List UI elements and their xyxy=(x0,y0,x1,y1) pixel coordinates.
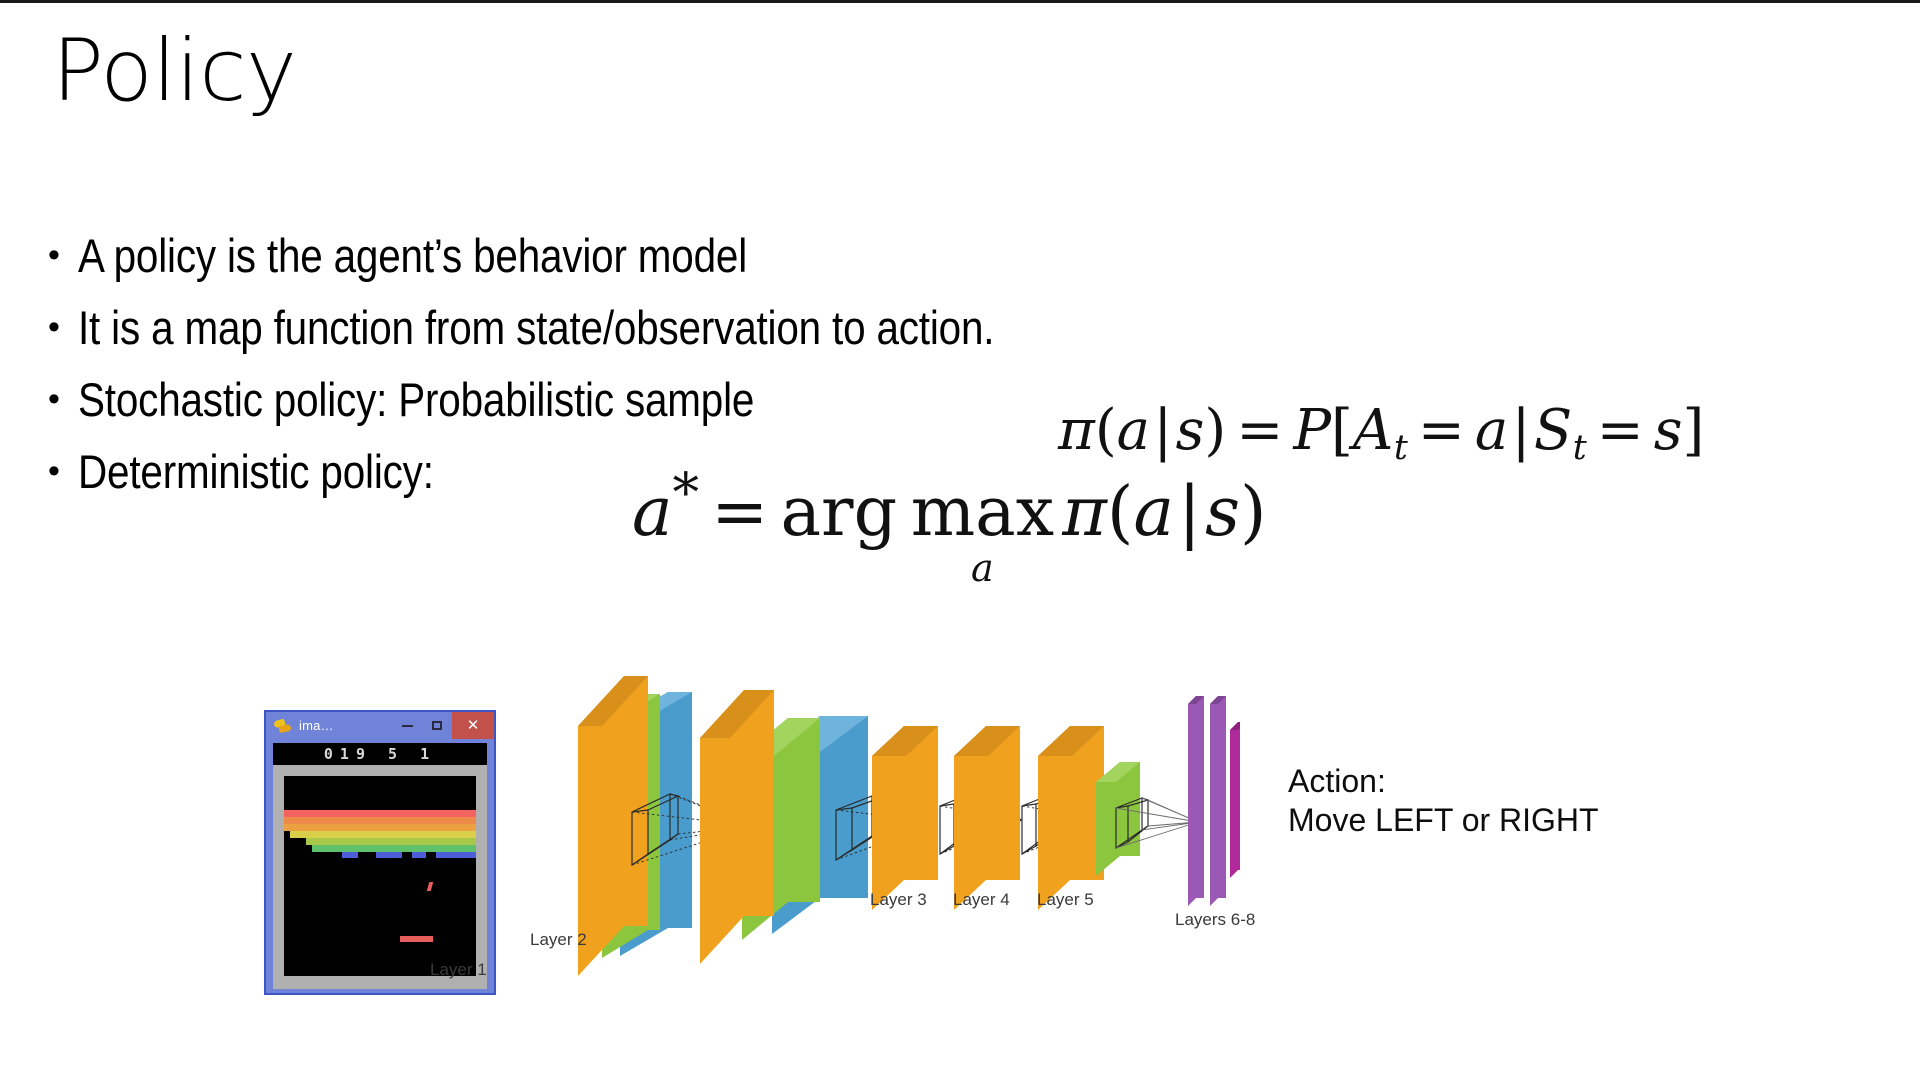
bullet-text-3: Stochastic policy: Probabilistic sample xyxy=(78,372,754,427)
brick-row-orange xyxy=(284,817,476,824)
stochastic-policy-formula: π(a|s)=P[At=a|st=s] xyxy=(1058,398,1704,468)
layer8-bar xyxy=(1230,722,1240,878)
window-title: ima… xyxy=(299,718,334,733)
formula-subscript-t: t xyxy=(1393,428,1407,468)
brick-blue-4 xyxy=(436,852,476,858)
argmax-a: a xyxy=(632,473,673,552)
cnn-label-layer-2: Layer 2 xyxy=(530,930,587,950)
brick-row-yellowgreen xyxy=(306,838,476,845)
layer5-green-block xyxy=(1096,762,1140,876)
bullet-marker-icon: • xyxy=(48,454,78,488)
formula-a-2: a xyxy=(1475,398,1508,463)
layer5-block xyxy=(1038,726,1104,910)
action-caption: Action: Move LEFT or RIGHT xyxy=(1288,762,1599,840)
bullet-text-2: It is a map function from state/observat… xyxy=(78,300,994,355)
cnn-label-layer-5: Layer 5 xyxy=(1037,890,1094,910)
brick-row-yellow xyxy=(290,831,476,838)
formula-paren-open: ( xyxy=(1095,398,1117,463)
paddle xyxy=(400,936,433,942)
bullet-marker-icon: • xyxy=(48,238,78,272)
formula-A: A xyxy=(1353,398,1393,463)
bullet-text-1: A policy is the agent’s behavior model xyxy=(78,228,747,283)
formula-bar-2: | xyxy=(1508,398,1534,463)
bullet-marker-icon: • xyxy=(48,382,78,416)
formula-S: s xyxy=(1534,398,1572,463)
formula-paren-close: ) xyxy=(1204,398,1226,463)
maximize-icon[interactable] xyxy=(422,712,452,739)
page-title: Policy xyxy=(52,26,296,116)
layer2-orange-block xyxy=(700,690,774,964)
bullet-text-4: Deterministic policy: xyxy=(78,444,434,499)
cnn-label-layer-1: Layer 1 xyxy=(430,960,487,980)
deterministic-policy-formula: a*=arg maxaπ(a|s) xyxy=(632,462,1267,587)
cnn-label-layers-6-8: Layers 6-8 xyxy=(1175,910,1255,930)
window-titlebar[interactable]: ima… ✕ xyxy=(266,712,494,739)
argmax-paren-close: ) xyxy=(1240,473,1267,552)
action-caption-line-1: Action: xyxy=(1288,762,1599,801)
brick-blue-2 xyxy=(376,852,402,858)
playfield xyxy=(284,776,476,976)
argmax-pi: π xyxy=(1054,473,1107,552)
formula-s-2: s xyxy=(1654,398,1683,463)
formula-a: a xyxy=(1117,398,1150,463)
formula-equals-2: = xyxy=(1408,398,1475,463)
action-caption-line-2: Move LEFT or RIGHT xyxy=(1288,801,1599,840)
breakout-game-window[interactable]: ima… ✕ 019 5 1 xyxy=(264,710,496,995)
close-icon[interactable]: ✕ xyxy=(452,712,494,739)
brick-row-red xyxy=(284,810,476,817)
argmax-equals: = xyxy=(699,473,780,552)
minimize-icon[interactable] xyxy=(392,712,422,739)
score-value: 019 5 1 xyxy=(324,745,436,763)
top-border-rule xyxy=(0,0,1920,3)
formula-P: P xyxy=(1293,398,1331,463)
cnn-architecture-diagram: Layer 1 Layer 2 Layer 3 Layer 4 Layer 5 … xyxy=(520,630,1240,1050)
formula-s: s xyxy=(1176,398,1205,463)
ball xyxy=(427,882,434,891)
brick-blue-1 xyxy=(342,852,358,858)
formula-pi: π xyxy=(1058,398,1095,463)
argmax-max: max xyxy=(911,479,1054,547)
formula-bar: | xyxy=(1150,398,1176,463)
argmax-star: * xyxy=(673,462,700,524)
brick-row-yellow-notch xyxy=(284,831,290,838)
formula-bracket-open: [ xyxy=(1331,398,1353,463)
formula-equals: = xyxy=(1226,398,1293,463)
argmax-arg: arg xyxy=(781,473,898,552)
layer6-bar xyxy=(1188,696,1204,906)
argmax-paren-open: ( xyxy=(1107,473,1134,552)
argmax-under-a: a xyxy=(971,549,994,587)
playfield-frame xyxy=(273,765,487,989)
bullet-marker-icon: • xyxy=(48,310,78,344)
argmax-s: s xyxy=(1205,473,1240,552)
cnn-label-layer-4: Layer 4 xyxy=(953,890,1010,910)
brick-row-amber xyxy=(284,824,476,831)
layer7-bar xyxy=(1210,696,1226,906)
cnn-svg xyxy=(520,630,1240,1050)
argmax-a-2: a xyxy=(1133,473,1174,552)
game-canvas: 019 5 1 xyxy=(273,743,487,989)
argmax-operator: maxa xyxy=(911,479,1054,587)
bullet-item-2: • It is a map function from state/observ… xyxy=(48,300,1878,372)
python-app-icon xyxy=(273,717,293,735)
formula-subscript-t-2: t xyxy=(1572,428,1586,468)
layer3-block xyxy=(872,726,938,910)
argmax-bar: | xyxy=(1174,473,1205,552)
cnn-label-layer-3: Layer 3 xyxy=(870,890,927,910)
formula-bracket-close: ] xyxy=(1683,398,1705,463)
brick-blue-3 xyxy=(412,852,426,858)
score-bar: 019 5 1 xyxy=(273,743,487,765)
formula-equals-3: = xyxy=(1587,398,1654,463)
layer4-block xyxy=(954,726,1020,910)
bullet-item-1: • A policy is the agent’s behavior model xyxy=(48,228,1878,300)
brick-row-green xyxy=(312,845,476,852)
